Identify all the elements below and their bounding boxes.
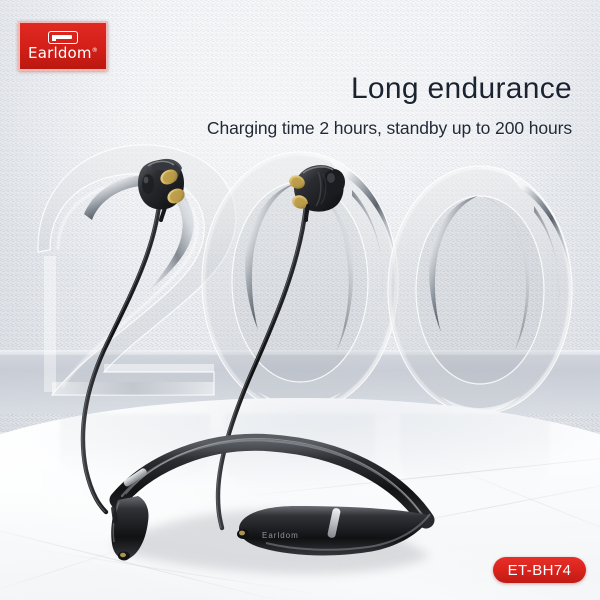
registered-mark: ® <box>92 47 98 54</box>
brand-name: Earldom <box>28 44 92 62</box>
brand-logo-text: Earldom® <box>28 46 98 61</box>
right-earbud-tip <box>323 169 345 195</box>
right-earbud <box>287 165 345 220</box>
arm-brand-engraving: Earldom <box>262 531 299 540</box>
brand-logo: Earldom® <box>18 21 108 71</box>
left-arm-port <box>120 553 126 557</box>
earldom-e-mark-icon <box>48 31 78 44</box>
right-arm-port <box>239 531 245 536</box>
model-badge: ET-BH74 <box>493 557 586 583</box>
right-earbud-cable <box>218 206 306 528</box>
left-earbud <box>138 159 187 220</box>
product-ad-canvas: Earldom <box>0 0 600 600</box>
headline-title: Long endurance <box>351 72 572 106</box>
headline-subtitle: Charging time 2 hours, standby up to 200… <box>207 118 572 139</box>
